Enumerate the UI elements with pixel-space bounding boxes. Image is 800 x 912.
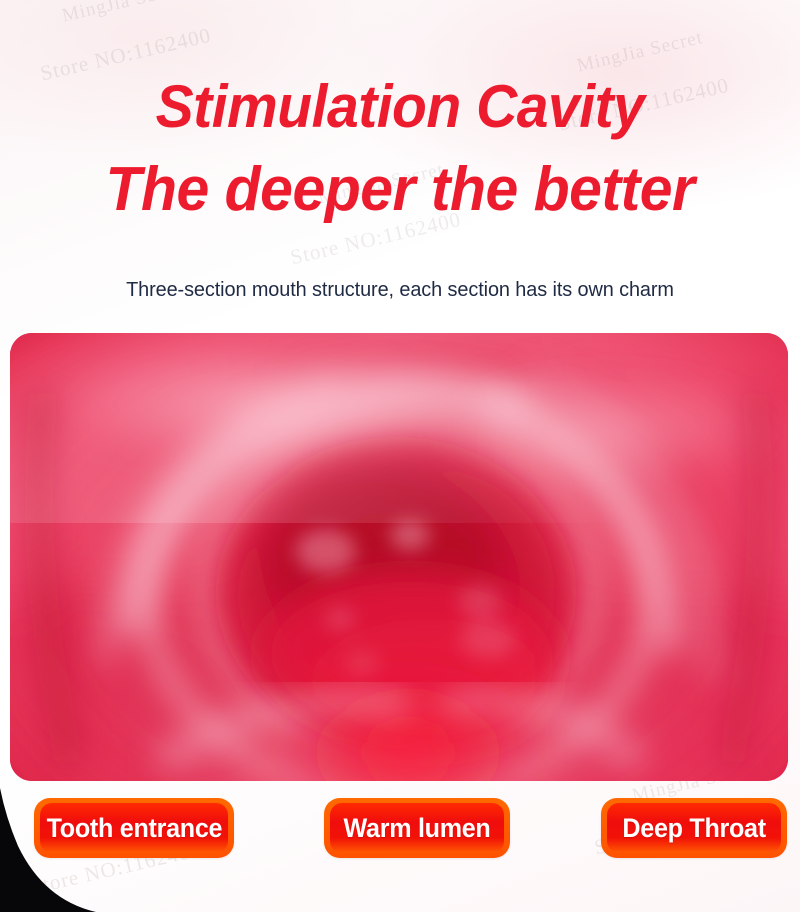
cavity-illustration <box>10 333 788 781</box>
label-chip-warm-lumen[interactable]: Warm lumen <box>324 798 510 858</box>
product-banner-page: MingJia Secret Store NO:1162400 MingJia … <box>0 0 800 912</box>
headline-line-1: Stimulation Cavity <box>20 76 780 138</box>
headline-block: Stimulation Cavity The deeper the better <box>0 76 800 222</box>
label-chip-deep-throat[interactable]: Deep Throat <box>601 798 787 858</box>
chip-inner-surface: Deep Throat <box>607 803 781 853</box>
headline-line-2: The deeper the better <box>20 158 780 222</box>
chip-inner-surface: Tooth entrance <box>40 803 228 853</box>
label-chip-tooth-entrance[interactable]: Tooth entrance <box>34 798 234 858</box>
label-chip-text: Warm lumen <box>344 813 491 844</box>
subtitle-text: Three-section mouth structure, each sect… <box>12 278 788 302</box>
cavity-interior-photo <box>10 333 788 781</box>
watermark-brand: MingJia Secret <box>60 0 190 27</box>
label-chip-text: Tooth entrance <box>46 813 222 844</box>
label-chip-text: Deep Throat <box>622 813 765 844</box>
chip-inner-surface: Warm lumen <box>330 803 504 853</box>
section-label-row: Tooth entrance Warm lumen Deep Throat <box>0 798 800 862</box>
watermark-brand: MingJia Secret <box>575 27 705 77</box>
